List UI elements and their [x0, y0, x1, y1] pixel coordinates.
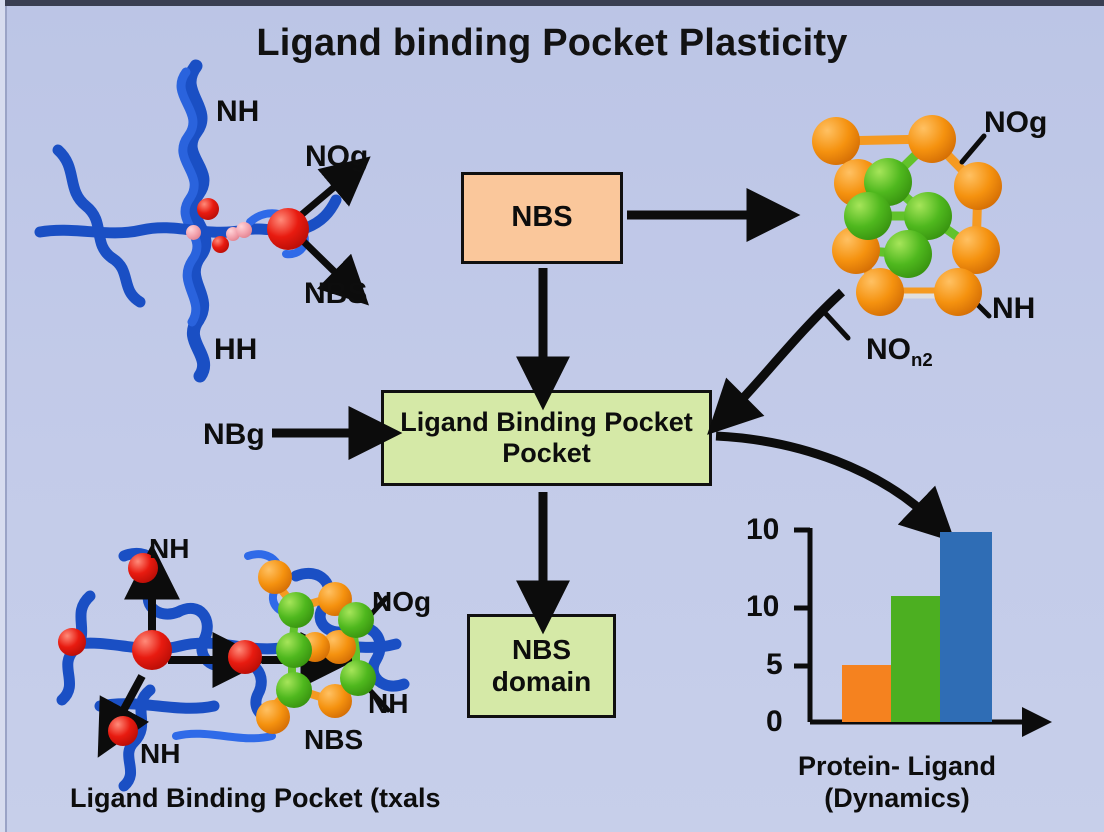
pocket-line-2: Pocket — [502, 438, 591, 468]
nbs-domain-line-1: NBS — [512, 634, 571, 665]
ligand-binding-pocket-label: Ligand Binding Pocket Pocket — [400, 407, 693, 469]
label-nh-top-left: NH — [216, 95, 259, 129]
atom-orange — [908, 115, 956, 163]
label-nh-top-right: NH — [992, 292, 1035, 326]
nbs-box-label: NBS — [511, 201, 572, 234]
atom-green — [844, 192, 892, 240]
atom-red — [108, 716, 138, 746]
label-non2-base: NO — [866, 333, 911, 366]
chart-caption-line-2: (Dynamics) — [824, 783, 970, 813]
ligand-binding-pocket-box[interactable]: Ligand Binding Pocket Pocket — [381, 390, 712, 486]
label-nog-bottom-left: NOg — [372, 586, 431, 618]
atom-red — [228, 640, 262, 674]
nbs-box[interactable]: NBS — [461, 172, 623, 264]
pocket-line-1: Ligand Binding Pocket — [400, 407, 693, 437]
atom-pink — [186, 225, 201, 240]
bar-chart: 10 10 5 0 Protein- Ligand (Dynamics) — [742, 510, 1052, 750]
y-tick-label-5: 5 — [766, 648, 783, 682]
slide-canvas: Ligand binding Pocket Plasticity — [0, 0, 1104, 832]
label-non2-sub: n2 — [911, 349, 933, 370]
nbs-domain-line-2: domain — [492, 666, 592, 697]
slide-top-border — [0, 0, 1104, 6]
label-non2: NOn2 — [866, 333, 933, 371]
page-title: Ligand binding Pocket Plasticity — [0, 22, 1104, 65]
atom-green — [278, 592, 314, 628]
atom-orange — [952, 226, 1000, 274]
atom-green — [276, 672, 312, 708]
chart-caption: Protein- Ligand (Dynamics) — [752, 750, 1042, 815]
chart-caption-line-1: Protein- Ligand — [798, 751, 996, 781]
label-nh-bottom-left-top: NH — [149, 533, 189, 565]
atom-green — [276, 632, 312, 668]
nbs-domain-box[interactable]: NBS domain — [467, 614, 616, 718]
atom-orange — [258, 560, 292, 594]
label-nh-bottom-left-bottom: NH — [140, 738, 180, 770]
y-tick-label-0: 0 — [766, 705, 783, 739]
label-nbs-top-left: NBS — [304, 277, 367, 311]
atom-orange — [934, 268, 982, 316]
slide-left-border-inner — [5, 6, 7, 832]
caption-bottom-left: Ligand Binding Pocket (txals — [70, 783, 441, 814]
bar-series-1 — [842, 665, 891, 722]
atom-orange — [812, 117, 860, 165]
y-tick-label-top: 10 — [746, 513, 779, 547]
label-nbs-bottom-left: NBS — [304, 724, 363, 756]
bar-series-3 — [940, 532, 992, 722]
atom-green — [884, 230, 932, 278]
nbs-domain-label: NBS domain — [492, 634, 592, 698]
label-nh-bottom-left-right: NH — [368, 688, 408, 720]
arrow-molecule-to-pocket — [730, 292, 842, 412]
atom-pink — [236, 222, 252, 238]
atom-red-large — [267, 208, 309, 250]
atom-green — [338, 602, 374, 638]
label-hh-top-left: HH — [214, 333, 257, 367]
bar-series-2 — [891, 596, 940, 722]
atom-red — [58, 628, 86, 656]
label-nog-top-left: NOg — [305, 140, 368, 174]
label-nog-top-right: NOg — [984, 106, 1047, 140]
y-tick-label-mid: 10 — [746, 590, 779, 624]
arrow-pocket-to-chart — [716, 436, 932, 520]
label-nbg-input: NBg — [203, 418, 265, 452]
atom-red — [132, 630, 172, 670]
atom-red — [197, 198, 219, 220]
atom-red — [212, 236, 229, 253]
atom-orange — [954, 162, 1002, 210]
